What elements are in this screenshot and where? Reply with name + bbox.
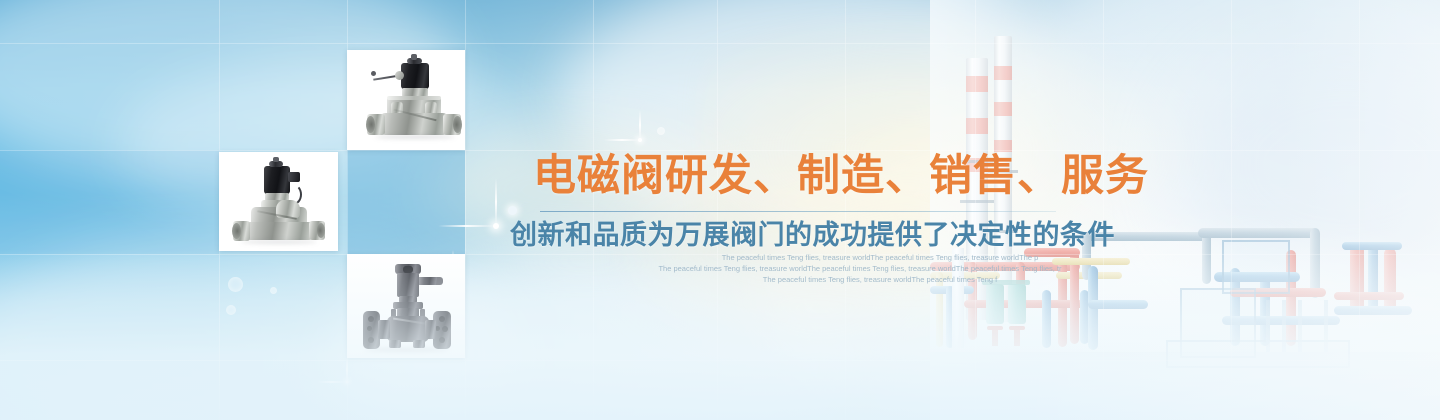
- divider-dot: [508, 206, 517, 215]
- microcopy-block: The peaceful times Teng flies, treasure …: [600, 252, 1120, 285]
- divider-line: [540, 211, 1056, 212]
- microcopy-line: The peaceful times Teng flies, treasure …: [600, 263, 1120, 274]
- banner-copy: 电磁阀研发、制造、销售、服务 创新和品质为万展阀门的成功提供了决定性的条件 Th…: [0, 0, 1440, 420]
- hero-banner: 电磁阀研发、制造、销售、服务 创新和品质为万展阀门的成功提供了决定性的条件 Th…: [0, 0, 1440, 420]
- microcopy-line: The peaceful times Teng flies, treasure …: [600, 252, 1120, 263]
- headline: 电磁阀研发、制造、销售、服务: [533, 155, 1149, 198]
- microcopy-line: The peaceful times Teng flies, treasure …: [600, 274, 1120, 285]
- subheadline: 创新和品质为万展阀门的成功提供了决定性的条件: [510, 222, 1115, 249]
